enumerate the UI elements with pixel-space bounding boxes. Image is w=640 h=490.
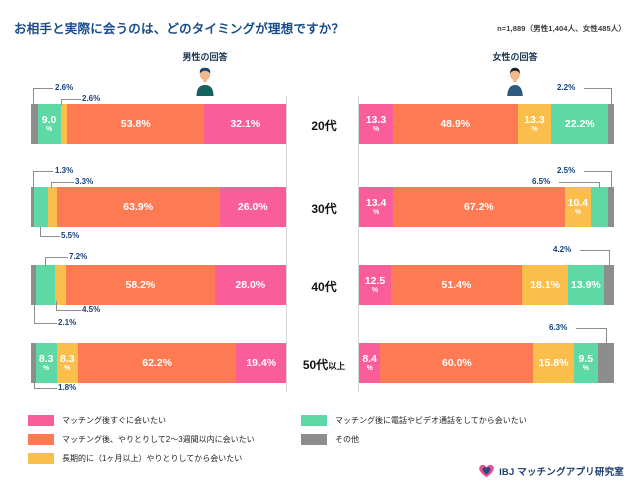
footer-logo: IBJ マッチングアプリ研究室: [478, 463, 624, 478]
segment-unit: %: [575, 209, 581, 216]
segment-after-call: 13.9%: [568, 265, 603, 305]
callout-male-30s-after-call: 5.5%: [61, 231, 79, 240]
age-label-30s: 30代: [288, 200, 360, 217]
segment-value: 12.5: [365, 276, 385, 287]
callout-female-20s-other: 2.2%: [557, 83, 575, 92]
callout-male-40s-after-call: 7.2%: [69, 252, 87, 261]
segment-unit: %: [46, 126, 52, 133]
bar-male-50s-plus: 8.3 % 8.3 % 62.2% 19.4%: [31, 343, 286, 383]
legend-column-left: マッチング後すぐに会いたい マッチング後、やりとりして2〜3週間以内に会いたい …: [28, 415, 255, 472]
male-column-label: 男性の回答: [145, 50, 265, 63]
segment-value: 8.4: [362, 354, 377, 365]
segment-value: 58.2%: [125, 280, 155, 291]
segment-value: 60.0%: [442, 358, 472, 369]
callout-male-20s-over-1-month: 2.6%: [82, 94, 100, 103]
infographic-page: お相手と実際に会うのは、どのタイミングが理想ですか？ n=1,889（男性1,4…: [0, 0, 640, 490]
age-label-main: 50代: [303, 358, 328, 372]
male-avatar-icon: [190, 66, 220, 96]
segment-value: 22.2%: [565, 119, 595, 130]
legend-swatch-icon: [28, 415, 54, 426]
callout-male-40s-other: 2.1%: [58, 318, 76, 327]
segment-value: 13.4: [366, 198, 386, 209]
segment-over-1-month: [55, 265, 66, 305]
segment-unit: %: [372, 287, 378, 294]
segment-within-2-3-weeks: 67.2%: [393, 187, 564, 227]
legend-label: マッチング後に電話やビデオ通話をしてから会いたい: [335, 415, 527, 426]
segment-value: 8.3: [39, 354, 54, 365]
segment-value: 48.9%: [440, 119, 470, 130]
bar-male-40s: 58.2% 28.0%: [31, 265, 286, 305]
segment-value: 13.3: [524, 115, 544, 126]
segment-after-call: [34, 187, 48, 227]
segment-within-2-3-weeks: 63.9%: [57, 187, 220, 227]
callout-male-30s-over-1-month: 3.3%: [75, 177, 93, 186]
segment-value: 63.9%: [123, 202, 153, 213]
segment-over-1-month: 13.3 %: [518, 104, 552, 144]
segment-after-call: 8.3 %: [36, 343, 57, 383]
age-label-20s: 20代: [288, 117, 360, 134]
legend-swatch-icon: [28, 434, 54, 445]
segment-other: [608, 187, 614, 227]
segment-unit: %: [373, 126, 379, 133]
bar-female-20s: 13.3 % 48.9% 13.3 % 22.2%: [359, 104, 614, 144]
footer-logo-text: IBJ マッチングアプリ研究室: [499, 464, 624, 478]
segment-unit: %: [373, 209, 379, 216]
legend-swatch-icon: [28, 453, 54, 464]
segment-over-1-month: 8.3 %: [57, 343, 78, 383]
segment-within-2-3-weeks: 58.2%: [66, 265, 214, 305]
segment-value: 18.1%: [530, 280, 560, 291]
callout-female-50s-other: 6.3%: [549, 323, 567, 332]
callout-male-50s-other: 1.8%: [58, 383, 76, 392]
segment-value: 15.8%: [539, 358, 569, 369]
segment-other: [608, 104, 614, 144]
callout-female-30s-other: 2.5%: [557, 166, 575, 175]
segment-within-2-3-weeks: 48.9%: [393, 104, 518, 144]
bar-female-50s-plus: 8.4 % 60.0% 15.8% 9.5 %: [359, 343, 614, 383]
female-avatar-icon: [500, 66, 530, 96]
age-label-main: 20代: [311, 119, 336, 133]
legend-swatch-icon: [301, 415, 327, 426]
segment-value: 26.0%: [238, 202, 268, 213]
callout-male-20s-other: 2.6%: [55, 83, 73, 92]
segment-immediately: 26.0%: [220, 187, 286, 227]
legend-swatch-icon: [301, 434, 327, 445]
legend-label: その他: [335, 434, 359, 445]
callout-female-40s-other: 4.2%: [553, 245, 571, 254]
segment-immediately: 28.0%: [215, 265, 286, 305]
segment-value: 53.8%: [121, 119, 151, 130]
segment-over-1-month: [61, 104, 68, 144]
segment-unit: %: [367, 365, 373, 372]
legend-item-after-call: マッチング後に電話やビデオ通話をしてから会いたい: [301, 415, 527, 426]
segment-over-1-month: 10.4 %: [565, 187, 592, 227]
segment-value: 13.3: [366, 115, 386, 126]
segment-after-call: [591, 187, 608, 227]
segment-value: 28.0%: [235, 280, 265, 291]
segment-within-2-3-weeks: 62.2%: [78, 343, 237, 383]
bar-female-40s: 12.5 % 51.4% 18.1% 13.9%: [359, 265, 614, 305]
segment-other: [604, 265, 615, 305]
segment-value: 62.2%: [142, 358, 172, 369]
segment-immediately: 13.4 %: [359, 187, 393, 227]
bar-female-30s: 13.4 % 67.2% 10.4 %: [359, 187, 614, 227]
segment-immediately: 13.3 %: [359, 104, 393, 144]
segment-unit: %: [583, 365, 589, 372]
segment-other: [31, 104, 38, 144]
male-column-header: 男性の回答: [145, 50, 265, 96]
legend-column-right: マッチング後に電話やビデオ通話をしてから会いたい その他: [301, 415, 527, 453]
legend-label: 長期的に（1ヶ月以上）やりとりしてから会いたい: [62, 453, 242, 464]
age-label-main: 40代: [311, 280, 336, 294]
segment-over-1-month: 15.8%: [533, 343, 573, 383]
segment-value: 67.2%: [464, 202, 494, 213]
segment-over-1-month: [48, 187, 56, 227]
segment-unit: %: [531, 126, 537, 133]
segment-within-2-3-weeks: 53.8%: [67, 104, 204, 144]
segment-over-1-month: 18.1%: [522, 265, 568, 305]
sample-size-note: n=1,889（男性1,404人、女性485人）: [497, 23, 626, 34]
segment-immediately: 32.1%: [204, 104, 286, 144]
age-label-40s: 40代: [288, 278, 360, 295]
female-column-label: 女性の回答: [455, 50, 575, 63]
segment-other: [598, 343, 614, 383]
page-title: お相手と実際に会うのは、どのタイミングが理想ですか？: [14, 18, 344, 37]
callout-male-30s-other: 1.3%: [55, 166, 73, 175]
bar-male-20s: 9.0 % 53.8% 32.1%: [31, 104, 286, 144]
legend-item-over-1-month: 長期的に（1ヶ月以上）やりとりしてから会いたい: [28, 453, 255, 464]
segment-after-call: 9.0 %: [38, 104, 61, 144]
legend-label: マッチング後、やりとりして2〜3週間以内に会いたい: [62, 434, 255, 445]
age-label-50s-plus: 50代以上: [288, 356, 360, 373]
heart-logo-icon: [478, 463, 495, 478]
segment-value: 9.5: [578, 354, 593, 365]
segment-value: 32.1%: [230, 119, 260, 130]
callout-female-30s-after-call: 6.5%: [532, 177, 550, 186]
age-label-main: 30代: [311, 202, 336, 216]
legend-label: マッチング後すぐに会いたい: [62, 415, 166, 426]
segment-immediately: 19.4%: [236, 343, 286, 383]
segment-immediately: 12.5 %: [359, 265, 391, 305]
legend-item-immediately: マッチング後すぐに会いたい: [28, 415, 255, 426]
segment-value: 13.9%: [571, 280, 601, 291]
segment-after-call: 22.2%: [551, 104, 608, 144]
segment-within-2-3-weeks: 51.4%: [391, 265, 522, 305]
bar-male-30s: 63.9% 26.0%: [31, 187, 286, 227]
callout-male-40s-over-1-month: 4.5%: [82, 305, 100, 314]
legend-item-within-2-3-weeks: マッチング後、やりとりして2〜3週間以内に会いたい: [28, 434, 255, 445]
segment-value: 51.4%: [442, 280, 472, 291]
segment-immediately: 8.4 %: [359, 343, 380, 383]
segment-within-2-3-weeks: 60.0%: [380, 343, 533, 383]
age-label-suffix: 以上: [328, 361, 345, 371]
segment-value: 9.0: [42, 115, 57, 126]
segment-value: 19.4%: [246, 358, 276, 369]
segment-value: 10.4: [568, 198, 588, 209]
segment-unit: %: [64, 365, 70, 372]
segment-value: 8.3: [60, 354, 75, 365]
segment-after-call: [36, 265, 54, 305]
legend-item-other: その他: [301, 434, 527, 445]
segment-unit: %: [43, 365, 49, 372]
segment-after-call: 9.5 %: [574, 343, 598, 383]
